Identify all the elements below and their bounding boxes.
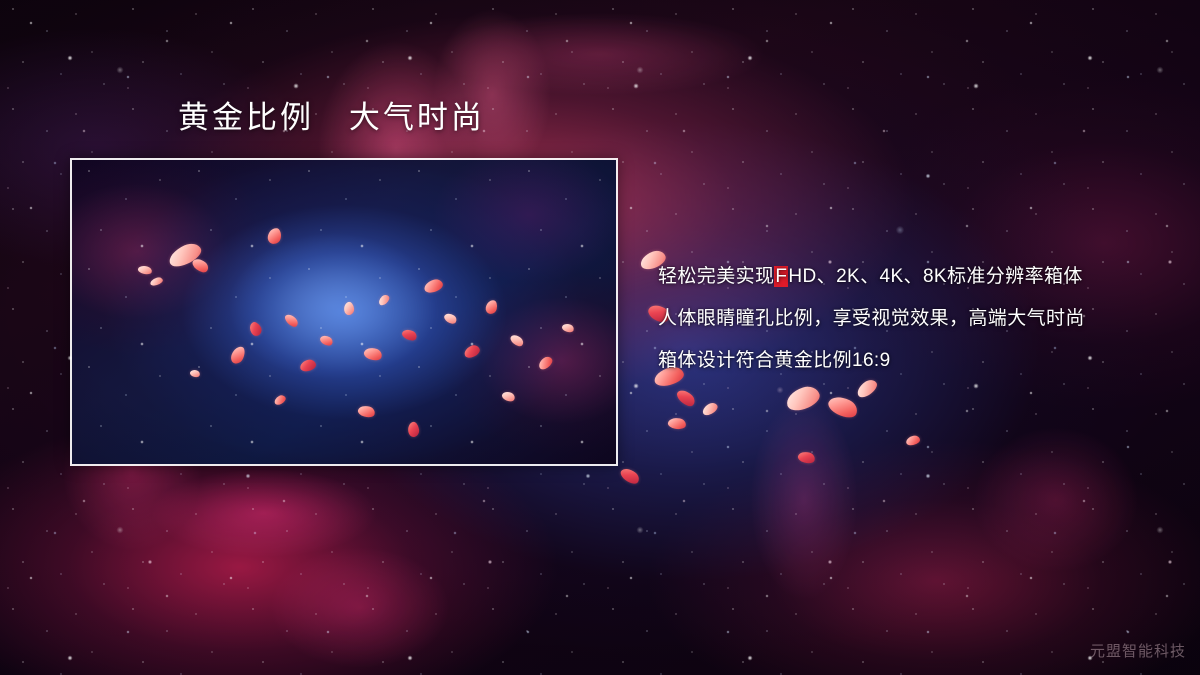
line1-text-after: HD、2K、4K、8K标准分辨率箱体 bbox=[788, 266, 1082, 287]
petal bbox=[618, 465, 641, 486]
petal bbox=[407, 421, 420, 438]
line1-text-before: 轻松完美实现 bbox=[658, 266, 774, 287]
petal bbox=[509, 333, 526, 349]
petal bbox=[826, 392, 861, 421]
petal bbox=[377, 293, 391, 307]
line1-highlight: F bbox=[774, 266, 788, 287]
petal bbox=[536, 355, 554, 372]
preview-image-frame bbox=[70, 158, 618, 466]
petal bbox=[229, 344, 247, 365]
petal bbox=[267, 227, 282, 245]
petal bbox=[797, 450, 816, 465]
petal bbox=[667, 417, 687, 431]
petal-layer-preview bbox=[72, 160, 616, 464]
petal bbox=[273, 394, 287, 407]
petal bbox=[401, 327, 419, 343]
petal bbox=[485, 299, 499, 315]
body-copy-line-2: 人体眼睛瞳孔比例，享受视觉效果，高端大气时尚 bbox=[658, 298, 1158, 340]
petal bbox=[905, 435, 921, 447]
petal bbox=[247, 320, 264, 338]
petal bbox=[319, 333, 335, 347]
petal bbox=[784, 383, 823, 413]
body-copy: 轻松完美实现FHD、2K、4K、8K标准分辨率箱体 人体眼睛瞳孔比例，享受视觉效… bbox=[658, 256, 1158, 382]
petal bbox=[675, 387, 698, 409]
petal bbox=[423, 278, 445, 295]
watermark: 元盟智能科技 bbox=[1090, 640, 1186, 661]
petal bbox=[137, 264, 153, 275]
petal bbox=[363, 346, 384, 363]
petal bbox=[443, 311, 459, 326]
petal bbox=[299, 358, 317, 372]
body-copy-line-1: 轻松完美实现FHD、2K、4K、8K标准分辨率箱体 bbox=[658, 256, 1158, 298]
petal bbox=[343, 301, 355, 315]
petal bbox=[701, 401, 720, 417]
page-title: 黄金比例 大气时尚 bbox=[178, 99, 485, 136]
petal bbox=[190, 256, 210, 275]
body-copy-line-3: 箱体设计符合黄金比例16:9 bbox=[658, 340, 1158, 382]
petal bbox=[357, 404, 376, 419]
petal bbox=[561, 322, 575, 334]
petal bbox=[189, 369, 201, 379]
petal bbox=[501, 390, 517, 404]
petal bbox=[283, 312, 300, 329]
petal bbox=[463, 343, 482, 359]
petal bbox=[149, 276, 164, 287]
presentation-slide: 黄金比例 大气时尚 轻松完美实现FHD、2K、4K、8K标准分辨率箱体 人体眼睛… bbox=[0, 0, 1200, 675]
